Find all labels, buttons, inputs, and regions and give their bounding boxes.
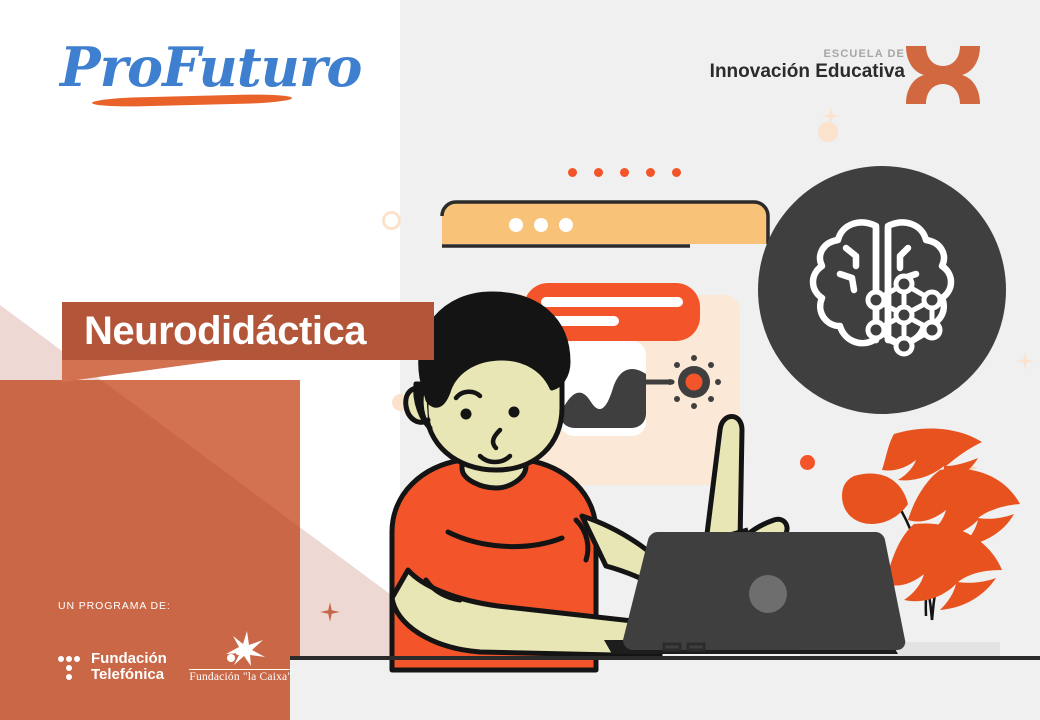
profuturo-wordmark: ProFuturo bbox=[60, 38, 320, 96]
page-title: Neurodidáctica bbox=[62, 302, 434, 360]
sponsor-fundacion-la-caixa[interactable]: Fundación "la Caixa" bbox=[189, 629, 293, 683]
accent-dot bbox=[646, 168, 655, 177]
lacaixa-rule bbox=[189, 669, 293, 670]
telefonica-dots-icon bbox=[58, 652, 82, 682]
telefonica-line2: Telefónica bbox=[91, 667, 167, 683]
brain-network-icon bbox=[800, 208, 964, 372]
sponsor-fundacion-telefonica[interactable]: Fundación Telefónica bbox=[58, 651, 167, 683]
escuela-x-mark bbox=[904, 44, 982, 106]
sparkle-icon bbox=[1014, 350, 1036, 372]
sponsors-block: UN PROGRAMA DE: Fundación Telefónica bbox=[58, 600, 293, 683]
sponsors-caption: UN PROGRAMA DE: bbox=[58, 600, 293, 612]
profuturo-logo[interactable]: ProFuturo bbox=[60, 38, 320, 108]
accent-dot bbox=[672, 168, 681, 177]
sparkle-icon bbox=[820, 105, 842, 127]
accent-dot bbox=[594, 168, 603, 177]
cover-slide: ProFuturo ESCUELA DE Innovación Educativ… bbox=[0, 0, 1040, 720]
escuela-lockup: ESCUELA DE Innovación Educativa bbox=[710, 48, 905, 83]
accent-dot bbox=[620, 168, 629, 177]
browser-dot bbox=[534, 218, 548, 232]
telefonica-line1: Fundación bbox=[91, 651, 167, 667]
page-title-text: Neurodidáctica bbox=[84, 309, 366, 354]
title-band-notch bbox=[62, 360, 222, 382]
browser-dot bbox=[559, 218, 573, 232]
escuela-eyebrow: ESCUELA DE bbox=[710, 48, 905, 60]
lacaixa-star-icon bbox=[189, 629, 293, 667]
soft-ring bbox=[382, 211, 401, 230]
lacaixa-wordmark: Fundación "la Caixa" bbox=[189, 671, 293, 683]
accent-dot-row bbox=[568, 168, 681, 177]
accent-dot bbox=[568, 168, 577, 177]
browser-dot bbox=[509, 218, 523, 232]
escuela-name: Innovación Educativa bbox=[710, 61, 905, 83]
laptop-illustration bbox=[560, 532, 930, 662]
